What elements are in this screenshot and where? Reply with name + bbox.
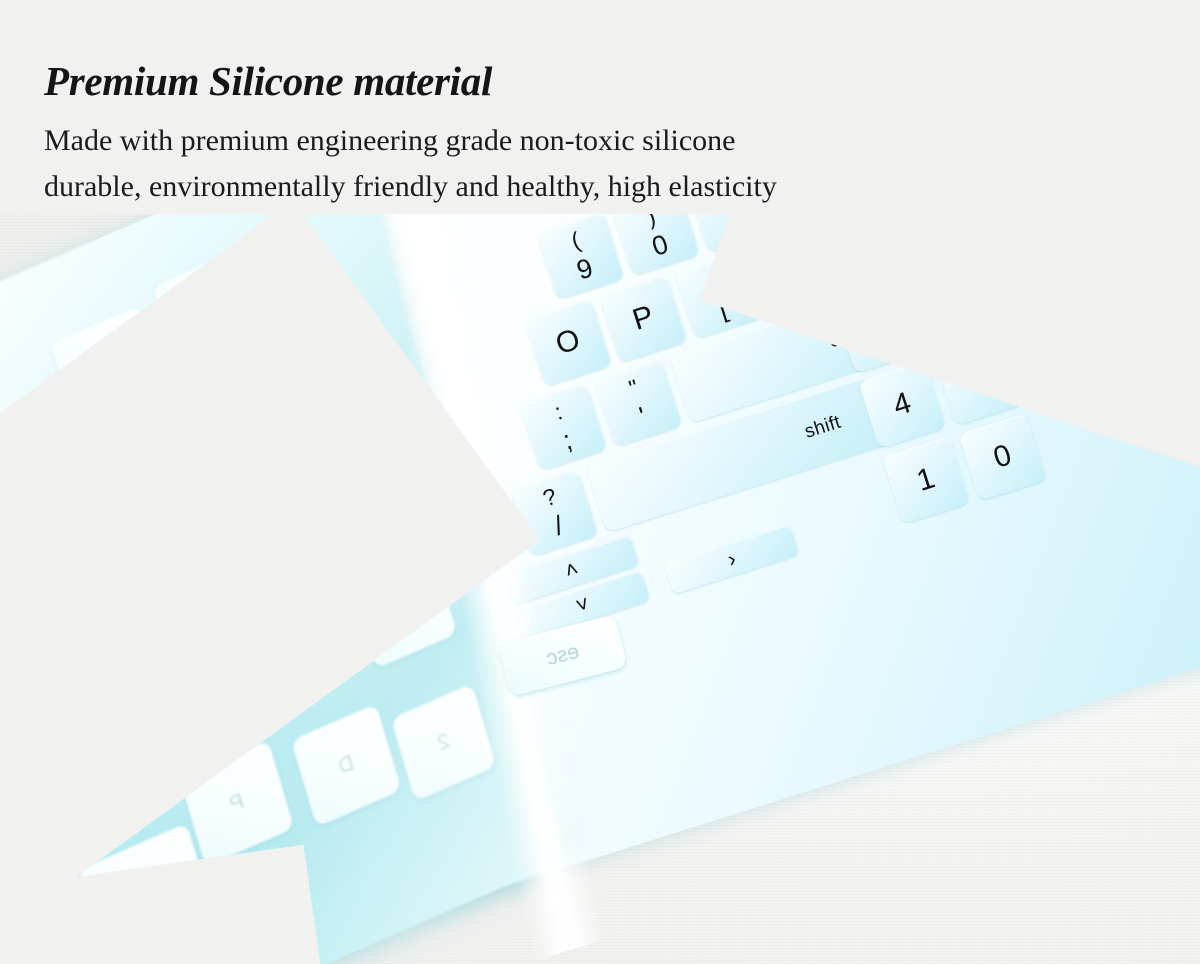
flap-key-d: D [291, 704, 401, 827]
description-block: Made with premium engineering grade non-… [44, 118, 944, 209]
arrow-up-icon: ˄ [562, 556, 582, 585]
arrow-right-icon: › [724, 546, 739, 573]
marketing-copy: Premium Silicone material Made with prem… [44, 58, 944, 209]
arrow-down-icon: ˅ [573, 591, 593, 620]
description-line-1: Made with premium engineering grade non-… [44, 118, 944, 164]
description-line-2: durable, environmentally friendly and he… [44, 164, 944, 210]
page-title: Premium Silicone material [44, 58, 944, 105]
